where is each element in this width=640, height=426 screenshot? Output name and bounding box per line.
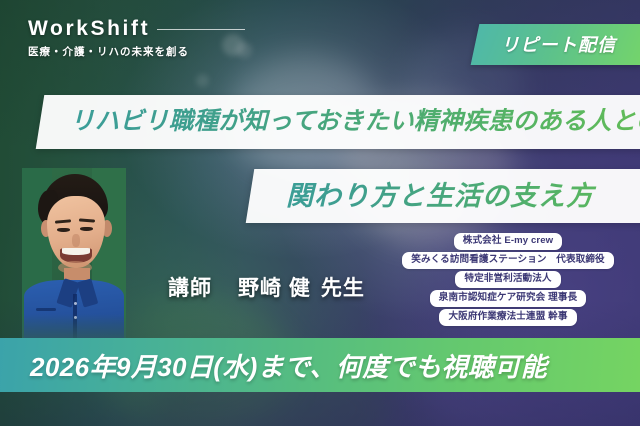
speaker-portrait-photo bbox=[22, 168, 126, 340]
webinar-promo-banner: WorkShift 医療・介護・リハの未来を創る リピート配信 リハビリ職種が知… bbox=[0, 0, 640, 426]
speaker-honorific: 先生 bbox=[321, 277, 365, 300]
title-line-1: リハビリ職種が知っておきたい精神疾患のある人との bbox=[40, 95, 640, 149]
speaker-name: 野崎 健 bbox=[238, 277, 311, 300]
credential-item: 大阪府作業療法士連盟 幹事 bbox=[439, 309, 576, 326]
credential-item: 泉南市認知症ケア研究会 理事長 bbox=[430, 290, 586, 307]
brand-logo: WorkShift 医療・介護・リハの未来を創る bbox=[28, 18, 245, 59]
speaker-credentials-list: 株式会社 E-my crew 笑みくる訪問看護ステーション 代表取締役 特定非営… bbox=[384, 233, 632, 326]
credential-item: 特定非営利活動法人 bbox=[455, 271, 560, 288]
title-band-primary: リハビリ職種が知っておきたい精神疾患のある人との bbox=[36, 95, 640, 149]
speaker-role-label: 講師 bbox=[168, 277, 212, 300]
speaker-name-block: 講師野崎 健先生 bbox=[168, 272, 365, 302]
logo-divider-line bbox=[157, 29, 245, 30]
repeat-broadcast-badge-label: リピート配信 bbox=[501, 31, 616, 57]
brand-tagline: 医療・介護・リハの未来を創る bbox=[28, 44, 245, 59]
credential-item: 笑みくる訪問看護ステーション 代表取締役 bbox=[402, 252, 614, 269]
availability-text: 2026年9月30日(水)まで、何度でも視聴可能 bbox=[0, 347, 547, 384]
title-line-2: 関わり方と生活の支え方 bbox=[250, 169, 640, 223]
credential-item: 株式会社 E-my crew bbox=[454, 233, 562, 250]
brand-logo-text: WorkShift bbox=[28, 18, 150, 39]
repeat-broadcast-badge: リピート配信 bbox=[470, 24, 640, 65]
availability-bar: 2026年9月30日(水)まで、何度でも視聴可能 bbox=[0, 338, 640, 392]
title-band-secondary: 関わり方と生活の支え方 bbox=[246, 169, 640, 223]
